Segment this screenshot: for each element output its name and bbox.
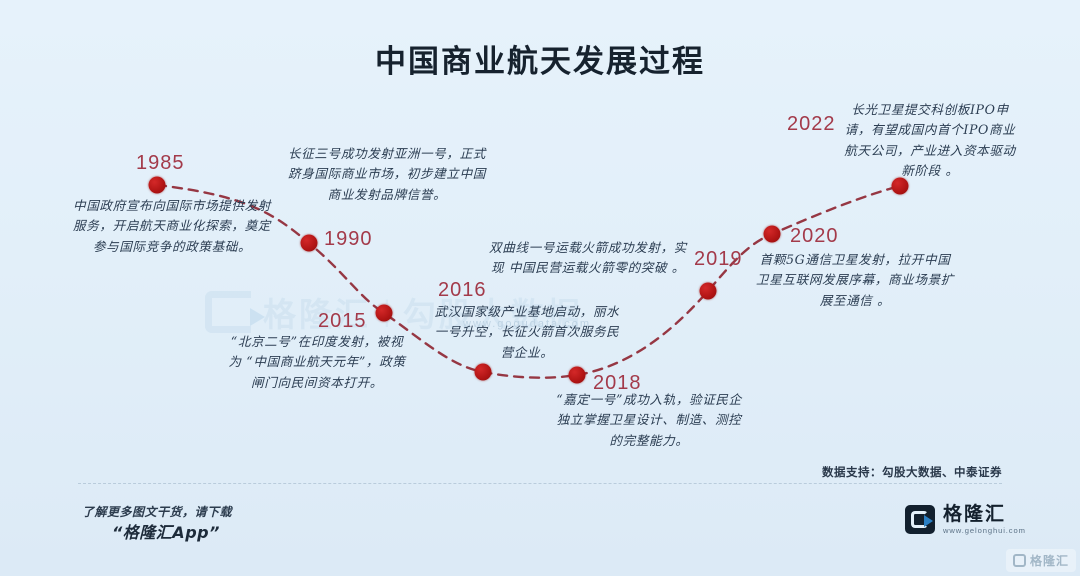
infographic-canvas: 中国商业航天发展过程 格隆汇 | 勾股大数据 www.gogudata.com … — [0, 0, 1080, 576]
corner-badge-label: 格隆汇 — [1030, 552, 1069, 569]
timeline-desc-2022: 长光卫星提交科创板IPO申请，有望成国内首个IPO商业航天公司，产业进入资本驱动… — [840, 100, 1020, 182]
timeline-year-1990: 1990 — [324, 228, 373, 251]
timeline-dot-2019[interactable] — [700, 283, 717, 300]
timeline-year-2022: 2022 — [787, 113, 836, 136]
timeline-desc-2016: 武汉国家级产业基地启动，丽水一号升空，长征火箭首次服务民营企业。 — [430, 302, 624, 363]
brand-logo[interactable]: 格隆汇 www.gelonghui.com — [905, 505, 1026, 535]
corner-g-icon — [1013, 554, 1026, 567]
corner-watermark-badge: 格隆汇 — [1006, 549, 1076, 572]
timeline-dot-2018[interactable] — [569, 367, 586, 384]
gelonghui-logo-icon — [205, 291, 251, 333]
brand-text-block: 格隆汇 www.gelonghui.com — [943, 505, 1026, 535]
timeline-desc-1990: 长征三号成功发射亚洲一号，正式跻身国际商业市场，初步建立中国商业发射品牌信誉。 — [282, 144, 492, 205]
timeline-desc-2018: “嘉定一号”成功入轨，验证民企独立掌握卫星设计、制造、测控的完整能力。 — [554, 390, 744, 451]
gelonghui-mark-icon — [905, 505, 935, 534]
timeline-year-1985: 1985 — [136, 152, 185, 175]
timeline-desc-2019: 双曲线一号运载火箭成功发射，实现 中国民营运载火箭零的突破 。 — [488, 238, 688, 279]
brand-name: 格隆汇 — [943, 505, 1026, 524]
timeline-dot-2016[interactable] — [475, 364, 492, 381]
timeline-dot-1985[interactable] — [149, 177, 166, 194]
timeline-desc-1985: 中国政府宣布向国际市场提供发射服务，开启航天商业化探索，奠定参与国际竞争的政策基… — [72, 196, 272, 257]
timeline-year-2015: 2015 — [318, 310, 367, 333]
timeline-dot-2015[interactable] — [376, 305, 393, 322]
timeline-year-2020: 2020 — [790, 225, 839, 248]
promo-line-1: 了解更多图文干货，请下载 — [82, 503, 232, 520]
page-title: 中国商业航天发展过程 — [0, 36, 1080, 81]
data-source-label: 数据支持：勾股大数据、中泰证券 — [822, 464, 1002, 480]
timeline-year-2019: 2019 — [694, 248, 743, 271]
footer-divider — [78, 483, 1002, 484]
brand-url: www.gelonghui.com — [943, 527, 1026, 535]
timeline-dot-1990[interactable] — [301, 235, 318, 252]
timeline-desc-2020: 首颗5G通信卫星发射，拉开中国卫星互联网发展序幕，商业场景扩展至通信 。 — [756, 250, 954, 311]
timeline-desc-2015: “北京二号”在印度发射，被视为 “中国商业航天元年”，政策闸门向民间资本打开。 — [228, 332, 406, 393]
promo-line-2: “格隆汇App” — [112, 519, 220, 543]
timeline-year-2016: 2016 — [438, 279, 487, 302]
timeline-dot-2020[interactable] — [764, 226, 781, 243]
